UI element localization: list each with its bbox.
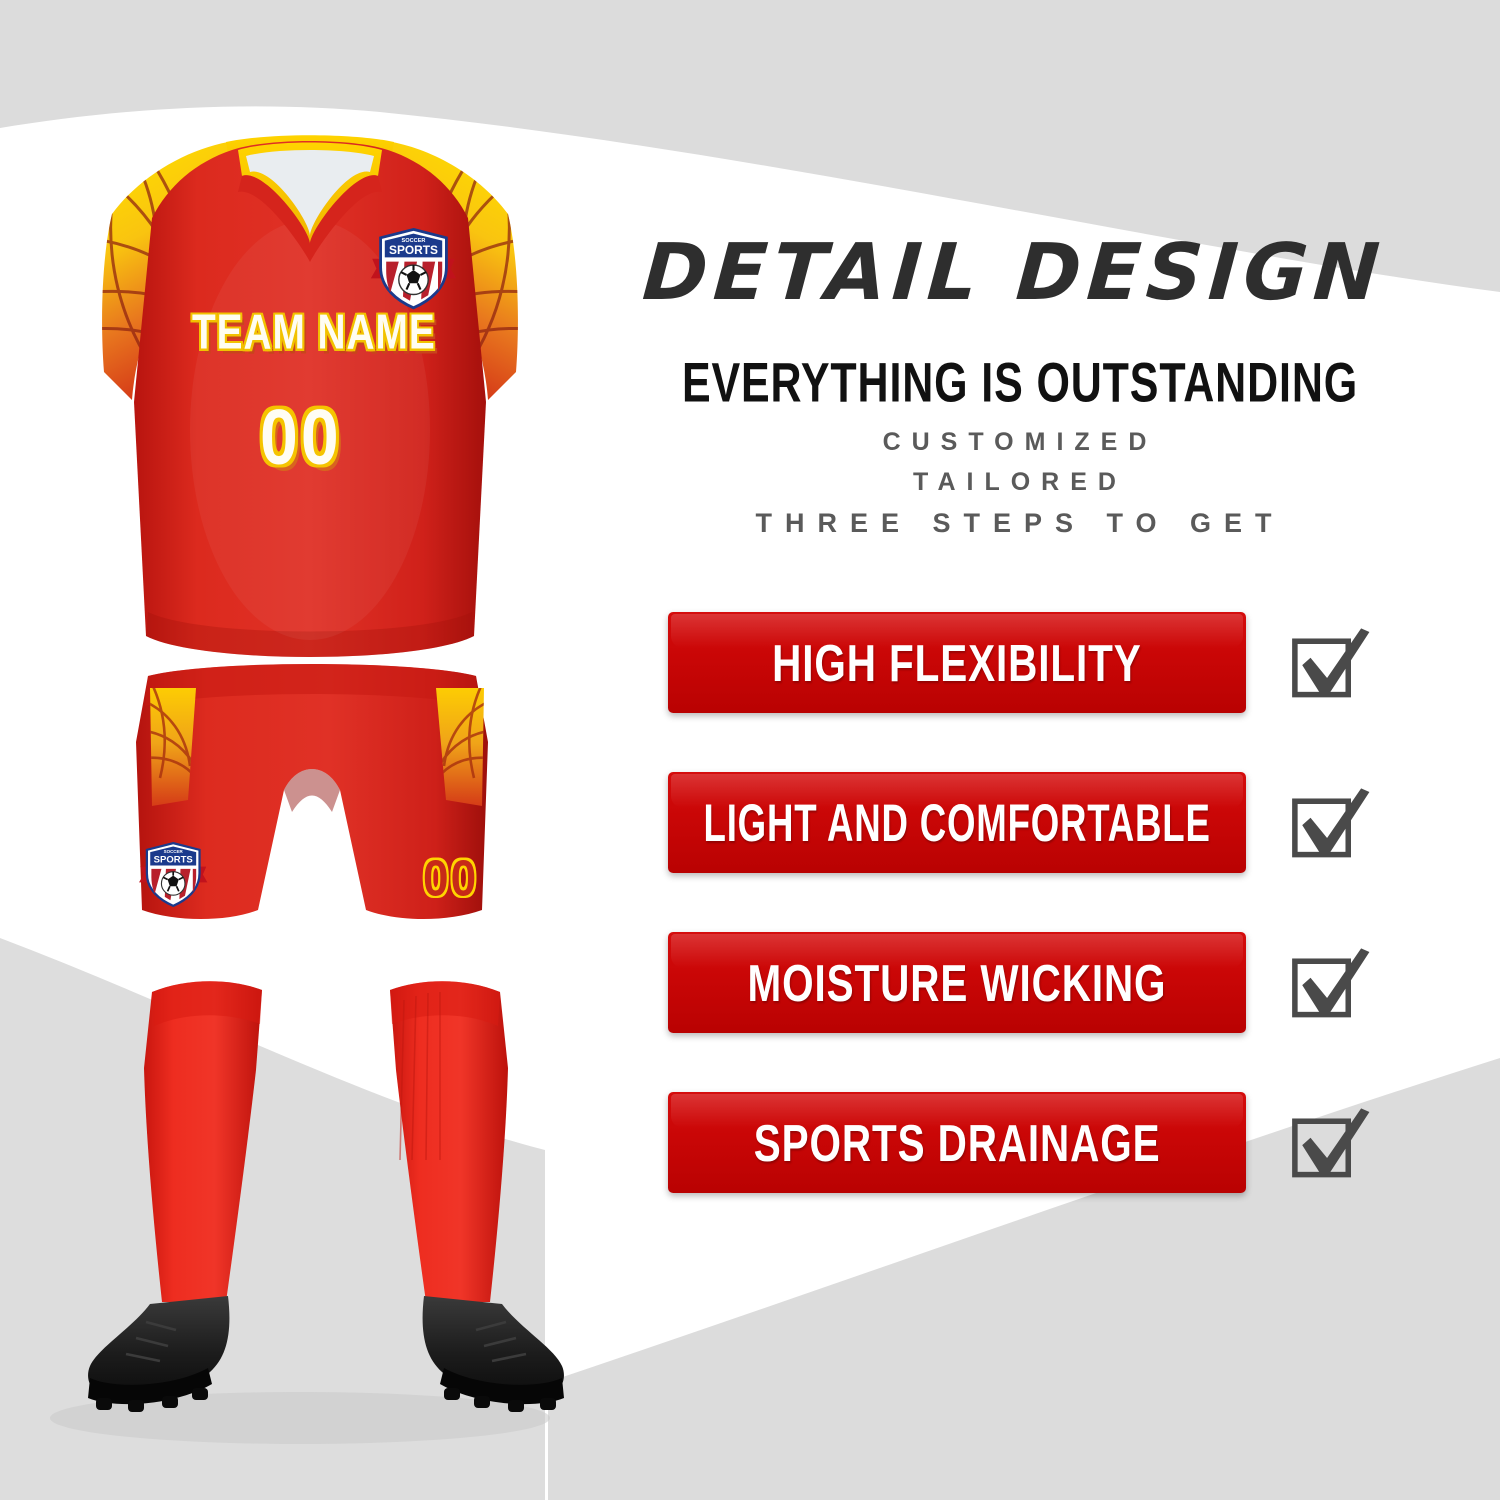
feature-label: SPORTS DRAINAGE (754, 1112, 1161, 1172)
page-subtitle: EVERYTHING IS OUTSTANDING (676, 350, 1364, 415)
check-square-icon (1282, 781, 1374, 873)
marketing-copy: DETAIL DESIGN EVERYTHING IS OUTSTANDING … (620, 0, 1500, 1500)
shoe-left (88, 1296, 229, 1412)
feature-label: LIGHT AND COMFORTABLE (703, 792, 1210, 854)
feature-label: HIGH FLEXIBILITY (772, 632, 1141, 692)
feature-row: HIGH FLEXIBILITY (668, 612, 1468, 772)
feature-list: HIGH FLEXIBILITY LIGHT AND COMFORTABLE (668, 612, 1468, 1252)
check-square-icon (1282, 941, 1374, 1033)
svg-text:SPORTS: SPORTS (154, 855, 193, 866)
tagline-customized: CUSTOMIZED (620, 428, 1420, 457)
tagline-tailored: TAILORED (620, 468, 1420, 497)
sock-left (144, 981, 262, 1302)
feature-row: SPORTS DRAINAGE (668, 1092, 1468, 1252)
sock-right (390, 981, 508, 1302)
svg-text:SOCCER: SOCCER (164, 849, 184, 854)
page-title: DETAIL DESIGN (631, 228, 1397, 318)
tagline-three-steps: THREE STEPS TO GET (620, 508, 1420, 539)
check-square-icon (1282, 621, 1374, 713)
crest-main-label: SPORTS (389, 243, 438, 257)
feature-row: MOISTURE WICKING (668, 932, 1468, 1092)
feature-row: LIGHT AND COMFORTABLE (668, 772, 1468, 932)
product-image: SOCCER SPORTS (0, 0, 620, 1500)
product-marketing-banner: SOCCER SPORTS (0, 0, 1500, 1500)
feature-chip-light-and-comfortable[interactable]: LIGHT AND COMFORTABLE (668, 772, 1246, 873)
check-square-icon (1282, 1101, 1374, 1193)
shorts: SOCCER SPORTS (136, 664, 500, 919)
feature-chip-high-flexibility[interactable]: HIGH FLEXIBILITY (668, 612, 1246, 713)
feature-label: MOISTURE WICKING (748, 952, 1167, 1012)
shoe-right (423, 1296, 564, 1412)
socks (144, 981, 508, 1302)
feature-chip-sports-drainage[interactable]: SPORTS DRAINAGE (668, 1092, 1246, 1193)
jersey (80, 135, 540, 657)
feature-chip-moisture-wicking[interactable]: MOISTURE WICKING (668, 932, 1246, 1033)
